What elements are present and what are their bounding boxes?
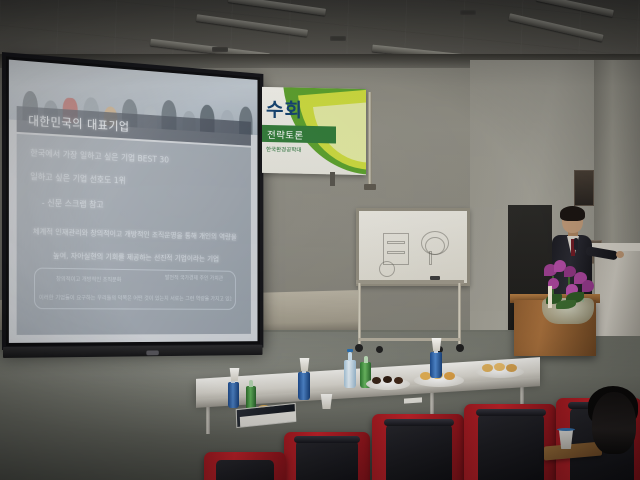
- presenter-hair: [560, 206, 585, 221]
- banner-strip-label: 전략토론: [262, 126, 304, 141]
- ceiling-sprinkler: [460, 10, 476, 15]
- bottle-neck: [348, 352, 352, 361]
- whiteboard-crossbar: [358, 338, 460, 341]
- slide-bullet: 한국에서 가장 일하고 싶은 기업 BEST 30: [17, 146, 251, 170]
- bottle-neck: [249, 380, 253, 387]
- seat-cup-rim: [557, 428, 575, 431]
- slide-bullet: 높여, 자아실현의 기회를 제공하는 선진적 기업이라는 기업: [17, 249, 251, 264]
- bottle-neck: [364, 356, 368, 363]
- microphone-icon: [574, 238, 578, 250]
- table-item-bottle-water: [344, 360, 356, 388]
- slide-callout-box: 창의적이고 개방적인 조직문화 발전적 국가경제 주인 가치관 이러한 기업들이…: [34, 268, 236, 310]
- table-item-bottle-blue: [228, 382, 239, 408]
- banner-pole-cap: [364, 184, 376, 190]
- banner-headline: 수회: [266, 95, 303, 123]
- table-item-bottle-blue: [430, 352, 442, 378]
- whiteboard: [356, 208, 470, 286]
- seat-crown: [384, 419, 454, 426]
- snack-cookie: [494, 363, 505, 371]
- banner-pole: [368, 92, 372, 188]
- snack-cookie: [482, 364, 493, 372]
- whiteboard-wheel: [376, 346, 383, 353]
- snack-dark: [372, 377, 381, 384]
- screenshot-scene: 대한민국의 대표기업 한국에서 가장 일하고 싶은 기업 BEST 30 일하고…: [0, 0, 640, 480]
- slide-title: 대한민국의 대표기업: [17, 110, 130, 134]
- whiteboard-wheel: [456, 344, 464, 352]
- slide-callout-bottom: 이러한 기업들이 요구하는 우리들의 덕목은 어떤 것이 있는지 서로는 그런 …: [39, 293, 232, 302]
- seat-headrest: [386, 424, 452, 480]
- snack-dark: [383, 376, 392, 383]
- ceiling-sprinkler: [212, 47, 228, 52]
- slide-callout-right: 발전적 국가경제 주인 가치관: [165, 274, 223, 282]
- slide-bullet: 일하고 싶은 기업 선호도 1위: [17, 170, 251, 192]
- seat-headrest: [216, 460, 274, 480]
- seat-headrest: [296, 440, 358, 480]
- slide-callout-left: 창의적이고 개방적인 조직문화: [56, 275, 121, 284]
- snack-fruit: [444, 372, 455, 380]
- orchid-petal: [582, 280, 594, 292]
- projection-screen: 대한민국의 대표기업 한국에서 가장 일하고 싶은 기업 BEST 30 일하고…: [2, 52, 263, 350]
- seat-crown: [476, 409, 546, 416]
- audience-member: [592, 392, 636, 454]
- slide-bullet: - 신문 스크랩 참고: [17, 196, 251, 216]
- presenter-hand: [616, 251, 624, 258]
- whiteboard-marker-tray: [356, 280, 464, 284]
- wall-speaker-icon: [574, 170, 594, 206]
- ceiling-sprinkler: [330, 36, 346, 41]
- ribbon: [548, 286, 552, 308]
- table-item-bottle-blue: [298, 372, 310, 400]
- whiteboard-wheel: [355, 344, 363, 352]
- banner-strip: 전략토론: [262, 125, 336, 144]
- whiteboard-leg: [358, 283, 361, 345]
- ceiling-hook: [330, 172, 335, 186]
- slide-bullet: 체계적 인재관리와 창의적이고 개방적인 조직운영을 통해 개인의 역량을: [17, 225, 251, 242]
- event-banner: 수회 전략토론 한국환경공학대: [262, 87, 366, 175]
- whiteboard-leg: [458, 283, 461, 345]
- snack-cookie: [506, 364, 517, 372]
- bottle-cap: [347, 349, 353, 352]
- slide-body: 한국에서 가장 일하고 싶은 기업 BEST 30 일하고 싶은 기업 선호도 …: [17, 134, 251, 335]
- snack-dark: [394, 377, 403, 384]
- presentation-slide: 대한민국의 대표기업 한국에서 가장 일하고 싶은 기업 BEST 30 일하고…: [9, 60, 258, 343]
- seat-headrest: [478, 414, 544, 480]
- whiteboard-marker: [430, 276, 440, 280]
- banner-subline: 한국환경공학대: [266, 145, 301, 154]
- seat-crown: [294, 436, 360, 443]
- screen-pull-knob: [146, 350, 158, 355]
